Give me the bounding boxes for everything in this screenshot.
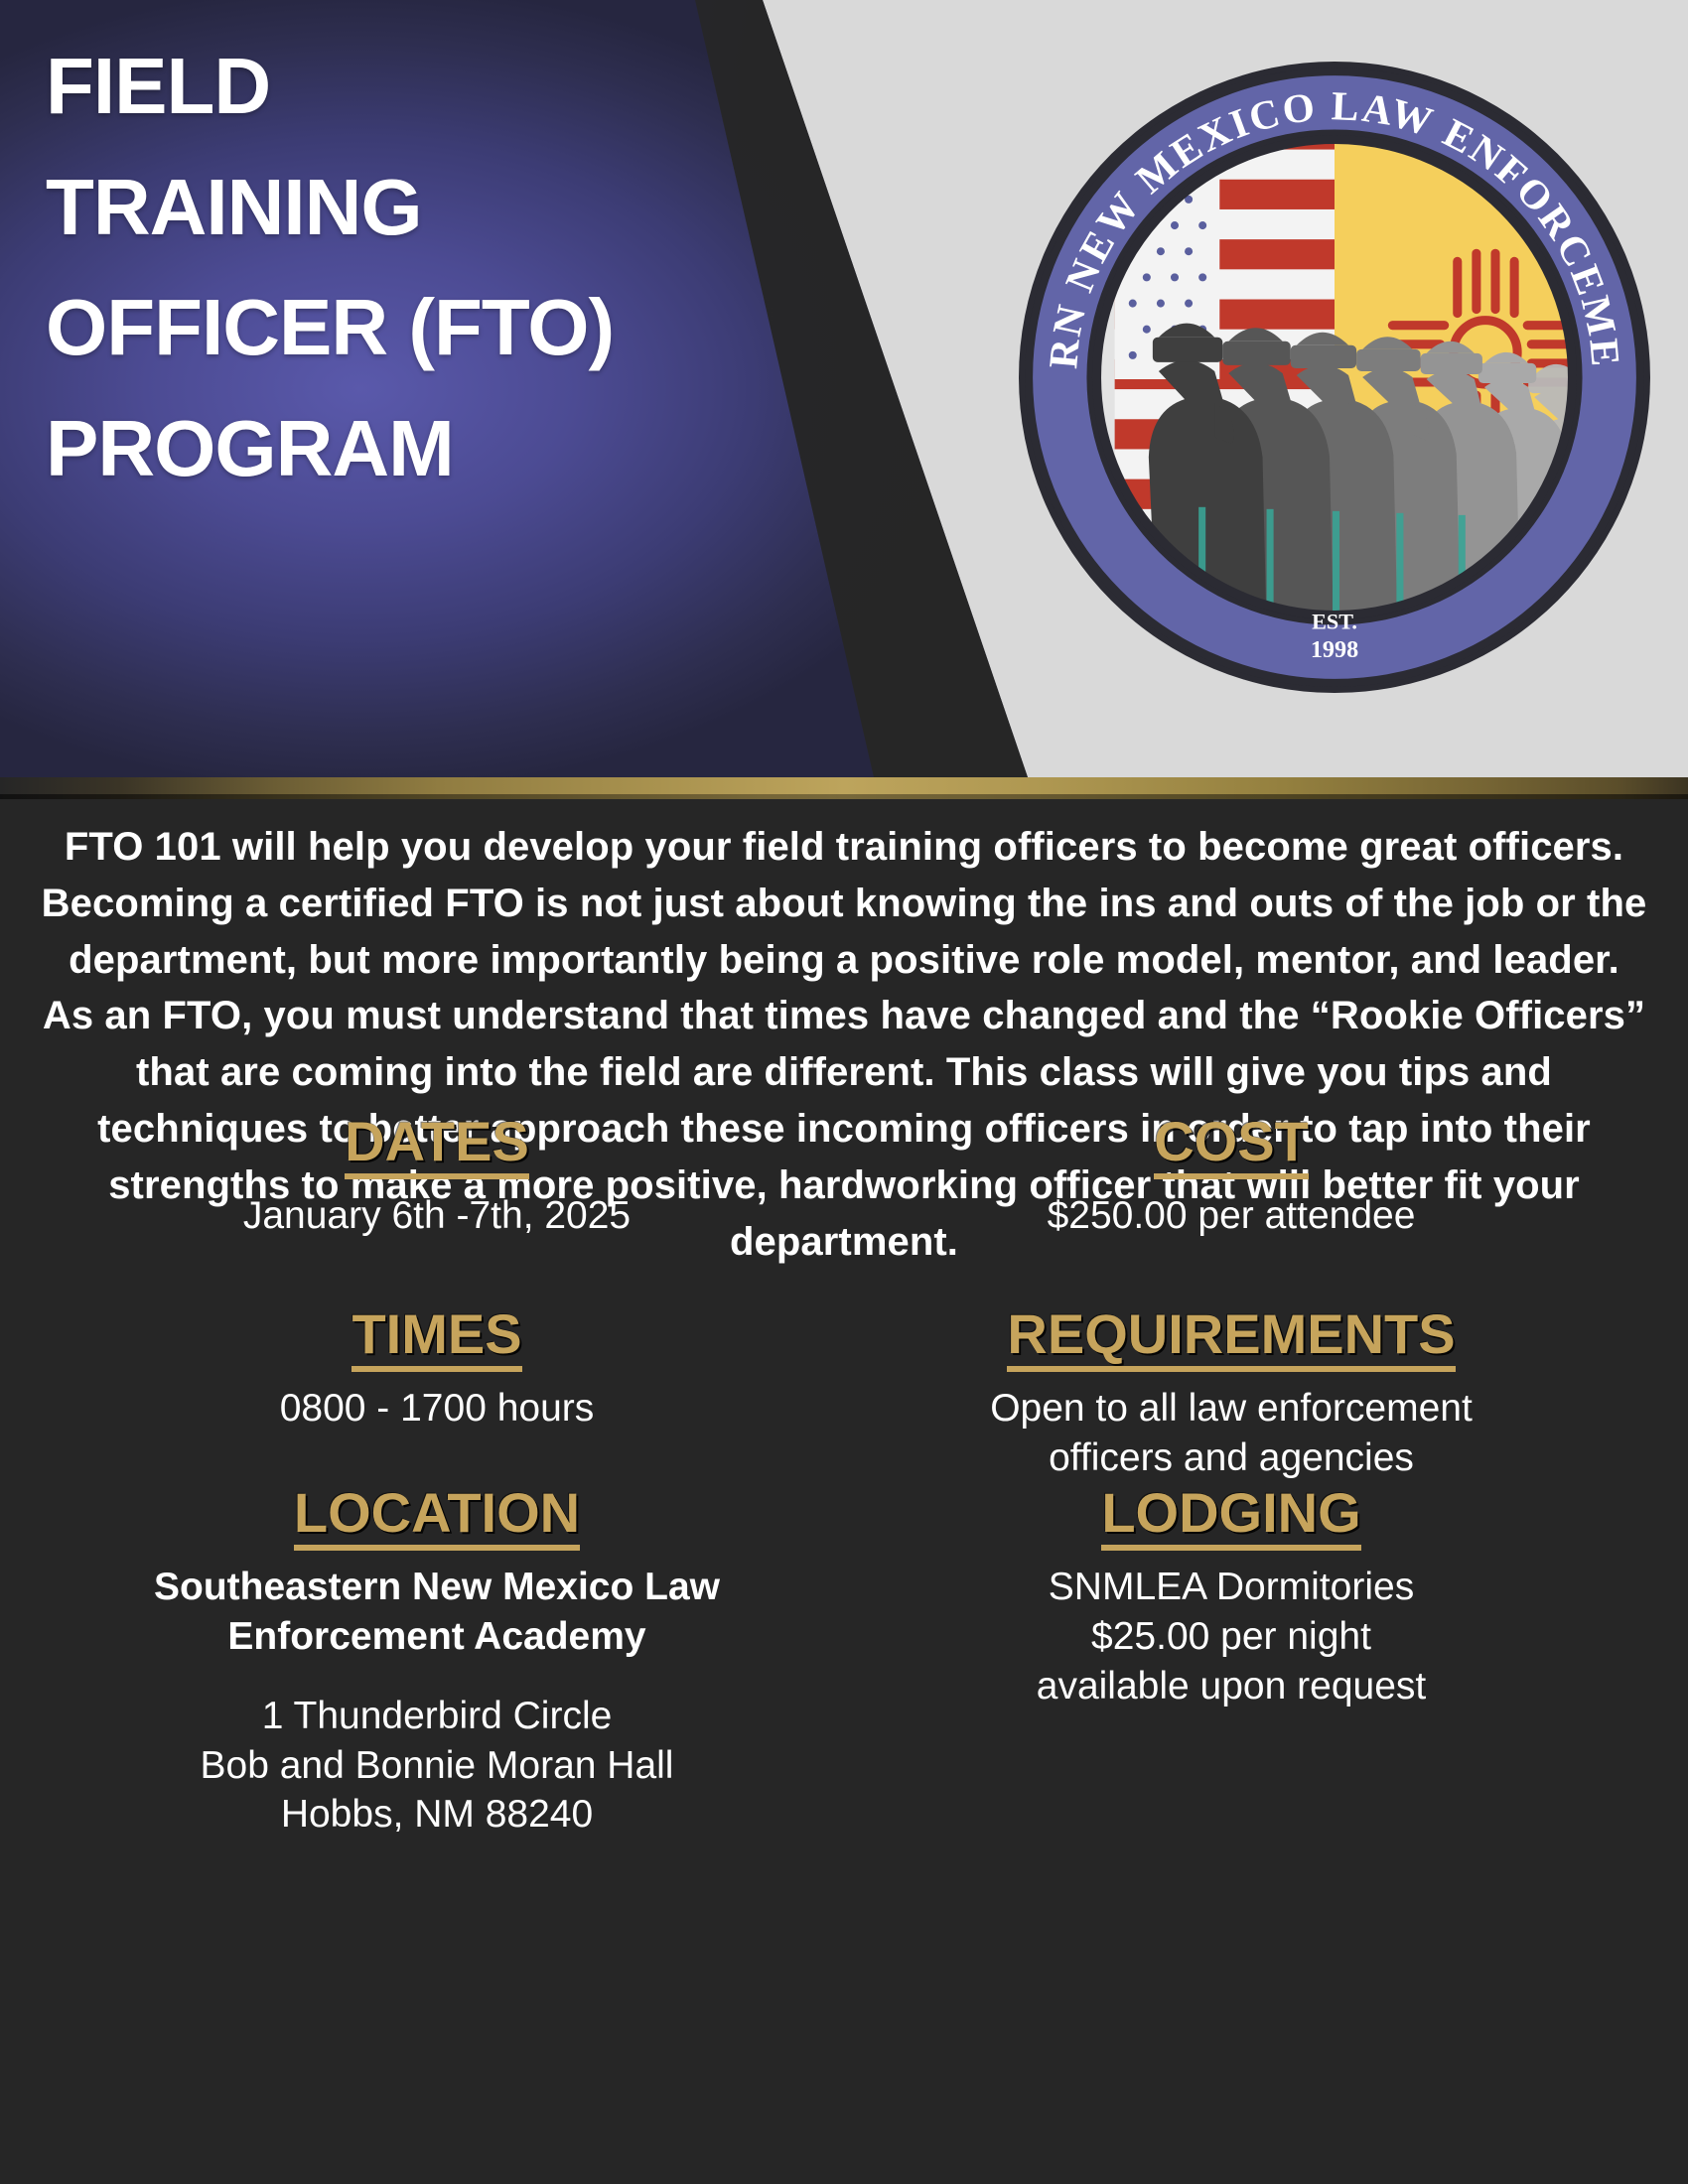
section-value-dates: January 6th -7th, 2025: [60, 1191, 814, 1241]
section-value-requirements: Open to all law enforcement officers and…: [854, 1384, 1609, 1483]
section-requirements: REQUIREMENTS Open to all law enforcement…: [854, 1305, 1609, 1483]
section-heading-times: TIMES: [352, 1305, 521, 1372]
section-location: LOCATION Southeastern New Mexico Law Enf…: [60, 1484, 814, 1840]
academy-seal-logo: SOUTHEASTERN NEW MEXICO LAW ENFORCEMENT …: [1015, 58, 1654, 697]
location-venue-line-1: Southeastern New Mexico Law: [60, 1563, 814, 1612]
lodging-line-1: SNMLEA Dormitories: [854, 1563, 1609, 1612]
title-line-4: PROGRAM: [46, 388, 721, 509]
location-address-line-3: Hobbs, NM 88240: [60, 1790, 814, 1840]
location-address-line-1: 1 Thunderbird Circle: [60, 1692, 814, 1741]
requirements-line-2: officers and agencies: [854, 1433, 1609, 1483]
location-venue: Southeastern New Mexico Law Enforcement …: [60, 1563, 814, 1662]
lodging-details: SNMLEA Dormitories $25.00 per night avai…: [854, 1563, 1609, 1711]
header-banner: FIELD TRAINING OFFICER (FTO) PROGRAM: [0, 0, 1688, 777]
lodging-line-3: available upon request: [854, 1662, 1609, 1711]
location-venue-line-2: Enforcement Academy: [60, 1612, 814, 1662]
section-value-times: 0800 - 1700 hours: [60, 1384, 814, 1433]
requirements-line-1: Open to all law enforcement: [854, 1384, 1609, 1433]
section-heading-dates: DATES: [345, 1113, 529, 1179]
seal-est-year: 1998: [1311, 636, 1358, 663]
location-address-line-2: Bob and Bonnie Moran Hall: [60, 1741, 814, 1791]
section-heading-location: LOCATION: [294, 1484, 580, 1551]
section-heading-requirements: REQUIREMENTS: [1007, 1305, 1455, 1372]
flyer-page: FIELD TRAINING OFFICER (FTO) PROGRAM: [0, 0, 1688, 2184]
flyer-body: FTO 101 will help you develop your field…: [0, 799, 1688, 2184]
page-title: FIELD TRAINING OFFICER (FTO) PROGRAM: [46, 26, 721, 508]
section-heading-lodging: LODGING: [1101, 1484, 1360, 1551]
title-line-1: FIELD: [46, 26, 721, 147]
title-line-3: OFFICER (FTO): [46, 267, 721, 388]
section-times: TIMES 0800 - 1700 hours: [60, 1305, 814, 1433]
location-spacer: [60, 1662, 814, 1680]
section-value-cost: $250.00 per attendee: [854, 1191, 1609, 1241]
section-heading-cost: COST: [1154, 1113, 1309, 1179]
section-cost: COST $250.00 per attendee: [854, 1113, 1609, 1241]
section-lodging: LODGING SNMLEA Dormitories $25.00 per ni…: [854, 1484, 1609, 1711]
lodging-line-2: $25.00 per night: [854, 1612, 1609, 1662]
location-address: 1 Thunderbird Circle Bob and Bonnie Mora…: [60, 1692, 814, 1841]
title-line-2: TRAINING: [46, 147, 721, 268]
seal-est-label: EST.: [1312, 610, 1357, 634]
section-dates: DATES January 6th -7th, 2025: [60, 1113, 814, 1241]
